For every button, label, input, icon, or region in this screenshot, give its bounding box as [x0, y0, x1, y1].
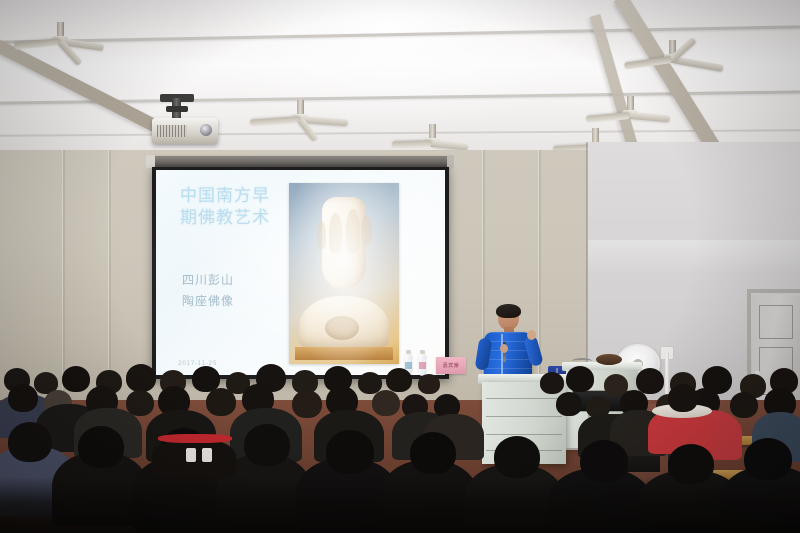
slide-title: 中国南方早 期佛教艺术	[180, 186, 298, 230]
slide-subtitle-line-2: 陶座佛像	[182, 291, 292, 312]
artifact-photo	[289, 183, 399, 364]
speaker-hair	[496, 304, 521, 318]
audience-head	[292, 390, 322, 418]
audience-head	[8, 422, 52, 462]
lecture-hall-photo: 中国南方早 期佛教艺术 四川彭山 陶座佛像 2017-11-25 嘉宾席	[0, 0, 800, 533]
audience-head	[410, 432, 456, 474]
audience	[0, 360, 800, 533]
audience-head	[668, 384, 698, 412]
speaker-hand	[527, 330, 536, 340]
audience-head	[566, 366, 594, 392]
projection-screen: 中国南方早 期佛教艺术 四川彭山 陶座佛像 2017-11-25	[152, 167, 449, 379]
audience-head	[636, 368, 664, 394]
screen-roller-housing	[152, 156, 450, 167]
ceiling-light-glow	[180, 0, 600, 130]
slide-title-line-1: 中国南方早	[180, 186, 298, 208]
audience-head	[126, 364, 156, 392]
audience-head	[244, 424, 290, 466]
presentation-slide: 中国南方早 期佛教艺术 四川彭山 陶座佛像 2017-11-25	[156, 170, 445, 375]
jacket-toggle	[202, 448, 212, 462]
audience-head	[730, 392, 758, 418]
projector-bracket	[166, 106, 188, 112]
audience-head	[62, 366, 90, 392]
projector-icon	[152, 118, 218, 144]
audience-head	[744, 438, 792, 480]
audience-head	[8, 384, 38, 412]
slide-subtitle-line-1: 四川彭山	[182, 270, 292, 291]
red-stripe-trim	[158, 434, 232, 443]
audience-head	[556, 392, 582, 416]
speaker-hand	[500, 344, 508, 353]
ceiling-seam	[0, 129, 800, 137]
audience-head	[580, 440, 628, 482]
audience-head	[326, 430, 374, 474]
audience-head	[206, 388, 236, 416]
audience-head	[372, 390, 400, 416]
audience-head	[540, 372, 564, 394]
audience-head	[418, 374, 440, 394]
slide-title-line-2: 期佛教艺术	[180, 208, 298, 230]
audience-head	[494, 436, 540, 478]
jacket-toggle	[186, 448, 196, 462]
audience-head	[126, 390, 154, 416]
audience-head	[386, 368, 412, 392]
audience-head	[78, 426, 124, 468]
slide-subtitle: 四川彭山 陶座佛像	[182, 270, 292, 312]
projector-lens-icon	[200, 124, 212, 136]
ceiling	[0, 0, 800, 162]
